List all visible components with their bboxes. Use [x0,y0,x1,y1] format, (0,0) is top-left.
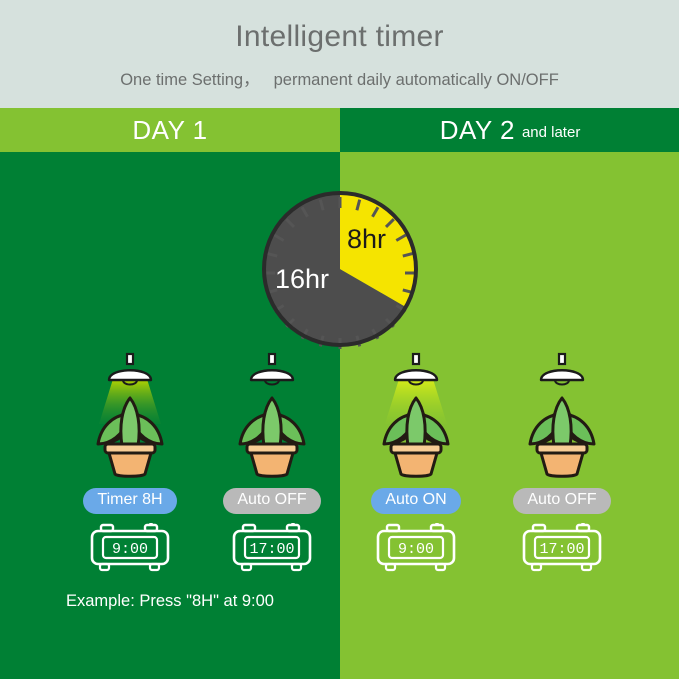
status-pill-4: Auto OFF [513,488,610,514]
alarm-clock-1: 9:00 [87,523,173,573]
lamp-shade-4 [541,370,583,380]
lamp-stem-1 [127,354,133,364]
alarm-clock-time-4: 17:00 [539,541,584,558]
alarm-clock-time-1: 9:00 [112,541,148,558]
header-band: Intelligent timer One time Setting，perma… [0,0,679,108]
alarm-clock-icon-4: 17:00 [519,523,605,573]
alarm-clock-3: 9:00 [373,523,459,573]
grow-light-on-icon [69,352,191,482]
subtitle-part-2: permanent daily automatically ON/OFF [274,71,559,89]
column-day1-on: Timer 8H 9:00 [57,352,203,573]
alarm-clock-icon-1: 9:00 [87,523,173,573]
alarm-clock-time-2: 17:00 [249,541,294,558]
status-pill-2: Auto OFF [223,488,320,514]
status-pill-1: Timer 8H [83,488,176,514]
alarm-clock-icon-3: 9:00 [373,523,459,573]
banner-day-1-label: DAY 1 [132,115,207,146]
alarm-clock-icon-2: 17:00 [229,523,315,573]
alarm-clock-2: 17:00 [229,523,315,573]
dial-on-label: 8hr [347,224,386,255]
subtitle-part-1: One time Setting， [120,71,259,89]
plant-icon-4 [530,398,594,476]
plant-icon-2 [240,398,304,476]
lamp-stem-2 [269,354,275,364]
lamp-plant-unit-1 [57,352,203,482]
infographic-canvas: Intelligent timer One time Setting，perma… [0,0,679,679]
lamp-plant-unit-3 [343,352,489,482]
column-day1-off: Auto OFF 17:00 [199,352,345,573]
example-caption: Example: Press "8H" at 9:00 [0,592,340,611]
page-subtitle: One time Setting，permanent daily automat… [0,66,679,90]
grow-light-off-icon [211,352,333,482]
lamp-stem-3 [413,354,419,364]
timer-dial: 16hr 8hr [257,186,423,352]
lamp-shade-1 [109,370,151,380]
lamp-plant-unit-4 [489,352,635,482]
column-day2-on: Auto ON 9:00 [343,352,489,573]
lamp-shade-3 [395,370,437,380]
grow-light-off-icon-2 [501,352,623,482]
lamp-shade-2 [251,370,293,380]
alarm-clock-time-3: 9:00 [398,541,434,558]
banner-day-2: DAY 2 and later [340,108,679,152]
alarm-clock-4: 17:00 [519,523,605,573]
banner-day-2-label: DAY 2 [440,115,515,146]
dial-off-label: 16hr [275,264,329,295]
lamp-plant-unit-2 [199,352,345,482]
column-day2-off: Auto OFF 17:00 [489,352,635,573]
lamp-stem-4 [559,354,565,364]
banner-day-2-sublabel: and later [522,124,580,141]
status-pill-3: Auto ON [371,488,460,514]
grow-light-on-icon-2 [355,352,477,482]
banner-day-1: DAY 1 [0,108,340,152]
page-title: Intelligent timer [0,20,679,54]
